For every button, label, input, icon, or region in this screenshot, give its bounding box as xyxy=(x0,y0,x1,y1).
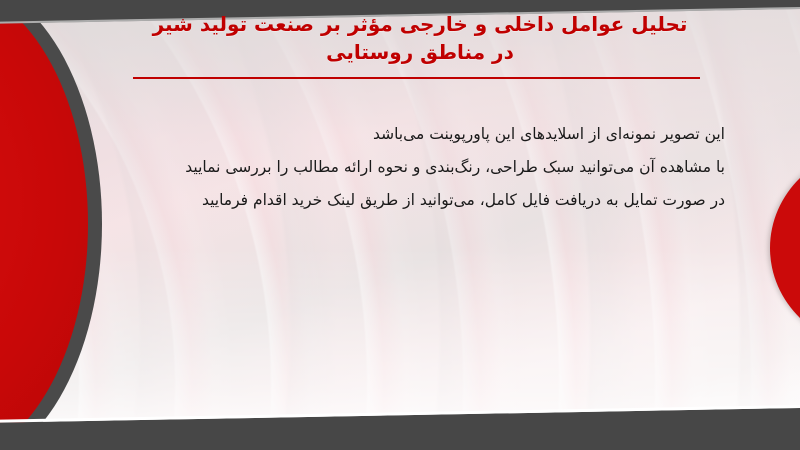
title-divider-rule xyxy=(133,77,700,79)
body-line-3: در صورت تمایل به دریافت فایل کامل، می‌تو… xyxy=(120,184,725,217)
presentation-slide: تحلیل عوامل داخلی و خارجی مؤثر بر صنعت ت… xyxy=(0,0,800,450)
body-line-1: این تصویر نمونه‌ای از اسلایدهای این پاور… xyxy=(120,118,725,151)
body-line-2: با مشاهده آن می‌توانید سبک طراحی، رنگ‌بن… xyxy=(120,151,725,184)
slide-body-text: این تصویر نمونه‌ای از اسلایدهای این پاور… xyxy=(120,118,725,217)
title-line-2: در مناطق روستایی xyxy=(120,38,720,66)
slide-title: تحلیل عوامل داخلی و خارجی مؤثر بر صنعت ت… xyxy=(120,10,720,66)
title-line-1: تحلیل عوامل داخلی و خارجی مؤثر بر صنعت ت… xyxy=(120,10,720,38)
slide-content: تحلیل عوامل داخلی و خارجی مؤثر بر صنعت ت… xyxy=(0,0,800,450)
